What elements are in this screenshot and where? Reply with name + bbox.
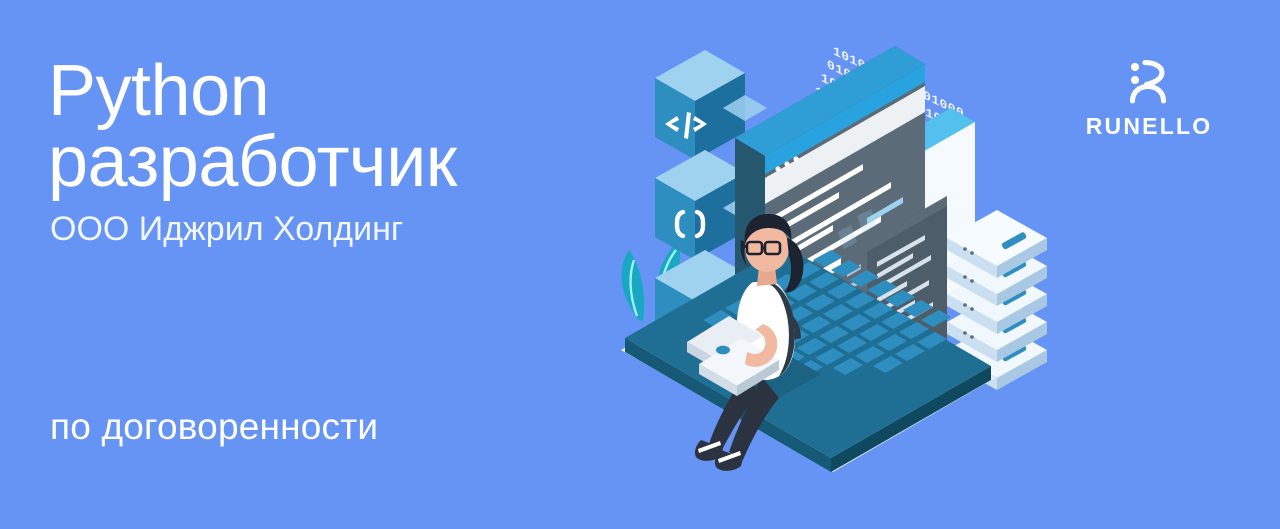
page-title: Python разработчик — [48, 56, 628, 197]
company-name: ООО Иджрил Холдинг — [50, 211, 628, 248]
job-vacancy-banner: Python разработчик ООО Иджрил Холдинг по… — [0, 0, 1280, 529]
salary-text: по договоренности — [50, 406, 378, 448]
job-text-block: Python разработчик ООО Иджрил Холдинг — [48, 56, 628, 248]
developer-illustration: 1010100010101000 0101010001101010 101010… — [595, 20, 1095, 490]
runello-face-mark-icon — [1127, 60, 1171, 106]
brand-logo[interactable]: RUNELLO — [1074, 60, 1224, 140]
isometric-scene-svg: 1010100010101000 0101010001101010 101010… — [595, 20, 1095, 490]
logo-wordmark: RUNELLO — [1074, 113, 1224, 140]
